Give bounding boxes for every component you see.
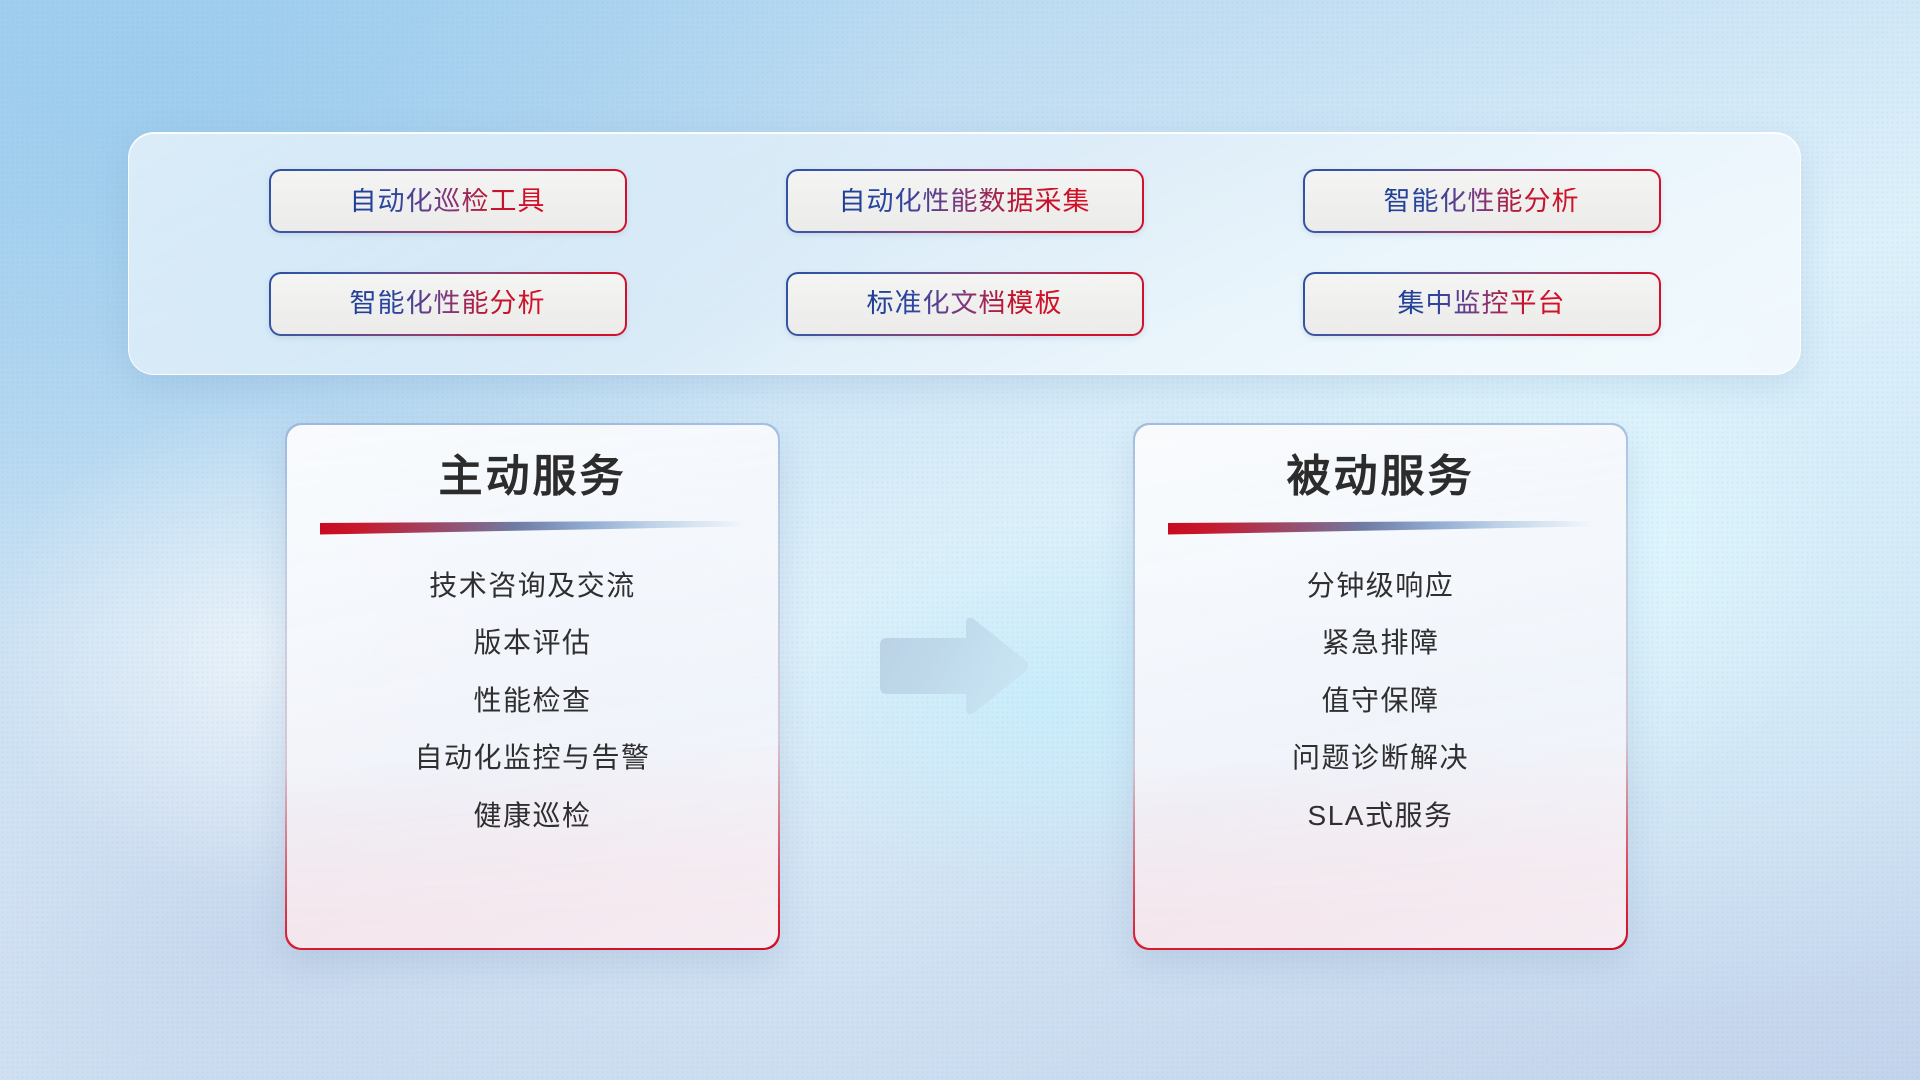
service-card-divider xyxy=(320,521,746,535)
service-list-item: 紧急排障 xyxy=(1321,626,1439,660)
service-card-surface: 主动服务 技术咨询及交流 版本评估 性能检查 自动化监控与告警 健康巡检 xyxy=(287,425,779,949)
capability-chip[interactable]: 自动化巡检工具 xyxy=(269,169,627,233)
capability-chip[interactable]: 智能化性能分析 xyxy=(269,272,627,336)
capability-chip-label: 智能化性能分析 xyxy=(1384,188,1580,215)
service-list-item: 问题诊断解决 xyxy=(1292,741,1469,775)
service-list-item: 版本评估 xyxy=(473,626,591,660)
service-card-title: 主动服务 xyxy=(439,451,627,503)
divider-gradient-bar xyxy=(1168,521,1594,535)
capability-chip-surface: 集中监控平台 xyxy=(1305,274,1659,334)
capability-chip-label: 标准化文档模板 xyxy=(867,290,1063,317)
capability-chip-surface: 智能化性能分析 xyxy=(271,274,625,334)
capability-chip-surface: 自动化巡检工具 xyxy=(271,171,625,231)
service-card-list: 技术咨询及交流 版本评估 性能检查 自动化监控与告警 健康巡检 xyxy=(287,569,779,833)
service-list-item: 性能检查 xyxy=(473,684,591,718)
service-card-divider xyxy=(1168,521,1594,535)
capability-chip[interactable]: 集中监控平台 xyxy=(1303,272,1661,336)
service-list-item: 健康巡检 xyxy=(473,799,591,833)
capability-chip-label: 集中监控平台 xyxy=(1398,290,1566,317)
service-card-title: 被动服务 xyxy=(1287,451,1475,503)
capability-chip-surface: 标准化文档模板 xyxy=(788,274,1142,334)
capability-chip[interactable]: 智能化性能分析 xyxy=(1303,169,1661,233)
service-list-item: SLA式服务 xyxy=(1308,799,1454,833)
service-list-item: 分钟级响应 xyxy=(1307,569,1455,603)
service-card-surface: 被动服务 分钟级响应 紧急排障 值守保障 问题诊断解决 SLA式服务 xyxy=(1135,425,1627,949)
service-list-item: 值守保障 xyxy=(1321,684,1439,718)
capability-chip[interactable]: 标准化文档模板 xyxy=(786,272,1144,336)
capability-chip[interactable]: 自动化性能数据采集 xyxy=(786,169,1144,233)
capability-chip-label: 自动化性能数据采集 xyxy=(839,188,1091,215)
capability-panel: 自动化巡检工具 自动化性能数据采集 智能化性能分析 智能化性能分析 标准化文档模… xyxy=(128,132,1801,375)
capability-chip-label: 智能化性能分析 xyxy=(350,290,546,317)
service-card-active: 主动服务 技术咨询及交流 版本评估 性能检查 自动化监控与告警 健康巡检 xyxy=(285,423,780,950)
capability-chip-surface: 自动化性能数据采集 xyxy=(788,171,1142,231)
service-card-list: 分钟级响应 紧急排障 值守保障 问题诊断解决 SLA式服务 xyxy=(1135,569,1627,833)
service-list-item: 自动化监控与告警 xyxy=(414,741,650,775)
capability-chip-grid: 自动化巡检工具 自动化性能数据采集 智能化性能分析 智能化性能分析 标准化文档模… xyxy=(129,133,1800,374)
service-list-item: 技术咨询及交流 xyxy=(429,569,636,603)
arrow-right-icon xyxy=(870,612,1032,722)
service-card-passive: 被动服务 分钟级响应 紧急排障 值守保障 问题诊断解决 SLA式服务 xyxy=(1133,423,1628,950)
capability-chip-label: 自动化巡检工具 xyxy=(350,188,546,215)
arrow-shape xyxy=(880,618,1028,715)
divider-gradient-bar xyxy=(320,521,746,535)
capability-chip-surface: 智能化性能分析 xyxy=(1305,171,1659,231)
flow-arrow xyxy=(870,612,1032,722)
